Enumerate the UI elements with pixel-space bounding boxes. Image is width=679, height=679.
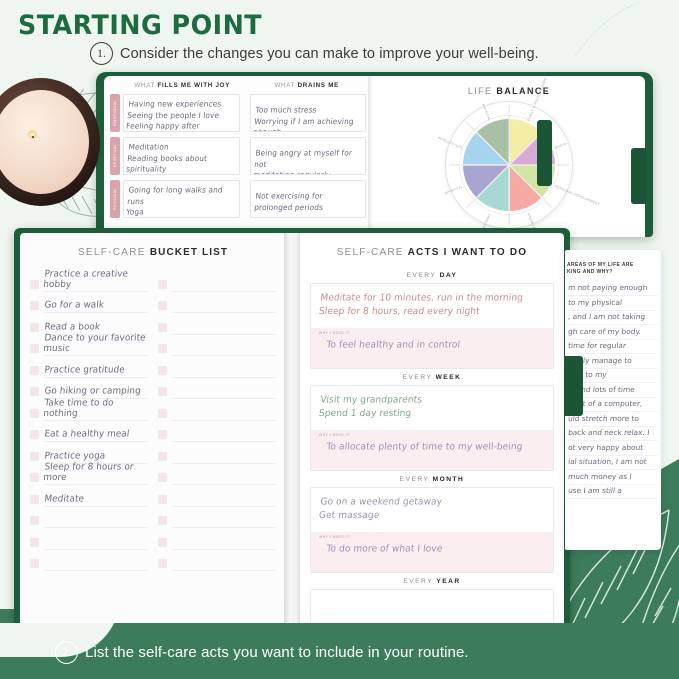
category-tab-label: PHYSICAL [113, 188, 117, 210]
bucket-list-item[interactable] [158, 528, 276, 550]
act-text: Meditate for 10 minutes, run in the morn… [318, 292, 543, 319]
self-care-act-block: Visit my grandparents Spend 1 day restin… [310, 385, 554, 471]
bucket-list-line [172, 294, 276, 313]
act-text: Visit my grandparents Spend 1 day restin… [318, 394, 543, 421]
act-input-area[interactable]: Visit my grandparents Spend 1 day restin… [311, 386, 553, 430]
why-text: To feel healthy and in control [318, 339, 545, 352]
bucket-list-checkbox[interactable] [30, 387, 39, 396]
bucket-list-item[interactable]: Sleep for 8 hours or more [30, 464, 148, 486]
bucket-list-item[interactable]: Take time to do nothing [30, 399, 148, 421]
step-one-number: 1. [90, 42, 113, 65]
step-one-text: Consider the changes you can make to imp… [120, 46, 539, 62]
bucket-list-line [44, 552, 148, 571]
bucket-list-item[interactable]: Dance to your favorite music [30, 335, 148, 357]
self-care-act-block: Meditate for 10 minutes, run in the morn… [310, 283, 554, 369]
joy-entry-box[interactable]: Having new experiences Seeing the people… [123, 94, 240, 132]
right-page-line: ial situation, I am not [567, 455, 659, 470]
bucket-list-line: Dance to your favorite music [44, 337, 148, 356]
bucket-list-checkbox[interactable] [158, 409, 167, 418]
bucket-list-line: Go hiking or camping [44, 380, 148, 399]
bucket-list-item[interactable] [30, 528, 148, 550]
candle-decoration [0, 78, 100, 206]
frequency-header: EVERY WEEK [300, 369, 564, 385]
category-tab-label: SPIRITUAL [113, 144, 117, 167]
bucket-list-line [172, 380, 276, 399]
drains-entry-text: Being angry at myself for not meditating… [251, 148, 360, 175]
bucket-list-item[interactable] [158, 485, 276, 507]
bucket-list-checkbox[interactable] [158, 430, 167, 439]
frequency-label: YEAR [436, 578, 460, 585]
elastic-band-top [631, 148, 647, 204]
bucket-list-column-left: Practice a creative hobbyGo for a walkRe… [30, 270, 148, 571]
bucket-list-checkbox[interactable] [158, 495, 167, 504]
step-one: 1. Consider the changes you can make to … [90, 42, 539, 65]
bucket-list-checkbox[interactable] [30, 495, 39, 504]
page-joy-drains: WHAT FILLS ME WITH JOY WHAT DRAINS ME EM… [104, 76, 372, 237]
step-two-number: 2. [55, 641, 78, 664]
right-page-line: , and I am not taking [567, 310, 659, 325]
self-care-acts-title: SELF-CARE ACTS I WANT TO DO [300, 233, 564, 267]
right-page-heading: AREAS OF MY LIFE ARE KING AND WHY? [565, 250, 661, 279]
right-page-line: time for regular [567, 339, 659, 354]
bucket-list-checkbox[interactable] [30, 280, 39, 289]
poster-canvas: STARTING POINT 1. Consider the changes y… [0, 0, 679, 679]
bucket-list-title: SELF-CARE BUCKET LIST [20, 233, 286, 270]
journal-spread-bottom: SELF-CARE BUCKET LIST Practice a creativ… [14, 228, 570, 642]
bucket-list-checkbox[interactable] [30, 366, 39, 375]
bucket-list-item[interactable] [158, 507, 276, 529]
bucket-list-item-text: Practice gratitude [44, 365, 125, 376]
bucket-list-item-text: Eat a healthy meal [44, 429, 130, 440]
bucket-list-item-text: Read a book [44, 322, 101, 333]
why-i-need-it-label: WHY I NEED IT [319, 331, 545, 339]
bucket-list-item-text: Go hiking or camping [44, 386, 141, 397]
bucket-list-checkbox[interactable] [30, 559, 39, 568]
bucket-list-item[interactable]: Read a book [30, 313, 148, 335]
why-text: To allocate plenty of time to my well-be… [318, 441, 545, 454]
bucket-list-item[interactable]: Go for a walk [30, 292, 148, 314]
bucket-list-item[interactable] [158, 378, 276, 400]
bucket-list-item[interactable]: Practice yoga [30, 442, 148, 464]
frequency-label: MONTH [433, 476, 465, 483]
bucket-list-line: Eat a healthy meal [44, 423, 148, 442]
why-input-area[interactable]: WHY I NEED ITTo allocate plenty of time … [311, 430, 553, 470]
bucket-list-line [172, 316, 276, 335]
step-two: 2. List the self-care acts you want to i… [55, 641, 469, 664]
why-input-area[interactable]: WHY I NEED ITTo feel healthy and in cont… [311, 328, 553, 368]
joy-entry-text: Having new experiences Seeing the people… [124, 99, 233, 132]
frequency-label: WEEK [436, 374, 462, 381]
act-text: Go on a weekend getaway Get massage [318, 496, 543, 523]
bucket-list-checkbox[interactable] [30, 473, 39, 482]
bucket-list-line: Go for a walk [44, 294, 148, 313]
bucket-list-line: Practice a creative hobby [44, 273, 148, 292]
bucket-list-item-text: Take time to do nothing [43, 398, 148, 419]
category-tab[interactable]: PHYSICAL [110, 180, 120, 218]
joy-entry-box[interactable]: Going for long walks and runs Yoga Danci… [123, 180, 240, 218]
bucket-list-item-text: Meditate [44, 494, 85, 505]
bucket-list-line [172, 402, 276, 421]
frequency-header: EVERY YEAR [300, 573, 564, 589]
joy-entry-text: Meditation Reading books about spiritual… [126, 142, 234, 175]
frequency-header: EVERY MONTH [300, 471, 564, 487]
bucket-list-line [172, 531, 276, 550]
bucket-list-line [172, 509, 276, 528]
bucket-list-item[interactable]: Go hiking or camping [30, 378, 148, 400]
bucket-list-item[interactable] [158, 421, 276, 443]
bucket-list-item[interactable] [158, 313, 276, 335]
bucket-list-line: Sleep for 8 hours or more [44, 466, 148, 485]
bucket-list-item[interactable]: Eat a healthy meal [30, 421, 148, 443]
act-input-area[interactable]: Meditate for 10 minutes, run in the morn… [311, 284, 553, 328]
bucket-list-checkbox[interactable] [158, 516, 167, 525]
why-input-area[interactable]: WHY I NEED ITTo do more of what I love [311, 532, 553, 572]
joy-entry-box[interactable]: Meditation Reading books about spiritual… [123, 137, 240, 175]
bucket-list-line [172, 273, 276, 292]
bucket-list-checkbox[interactable] [158, 452, 167, 461]
bucket-list-item[interactable] [30, 550, 148, 572]
bucket-list-line [172, 359, 276, 378]
life-balance-wheel: FAMILY & RELATIONSHIPSSOCIALPERSONAL DEV… [445, 101, 573, 229]
bucket-list-checkbox[interactable] [158, 280, 167, 289]
bucket-list-line [172, 423, 276, 442]
bucket-list-checkbox[interactable] [30, 516, 39, 525]
self-care-acts-blocks: EVERY DAYMeditate for 10 minutes, run in… [300, 267, 564, 637]
frequency-prefix: EVERY [403, 578, 436, 585]
bucket-list-checkbox[interactable] [158, 301, 167, 310]
bucket-list-checkbox[interactable] [30, 538, 39, 547]
bucket-list-item[interactable] [158, 464, 276, 486]
bucket-list-item-text: Go for a walk [44, 300, 105, 311]
bucket-list-line [44, 531, 148, 550]
bucket-list-line: Practice gratitude [44, 359, 148, 378]
bucket-list-item[interactable] [158, 550, 276, 572]
drains-entry-text: Not exercising for prolonged periods [253, 191, 360, 213]
why-i-need-it-label: WHY I NEED IT [319, 535, 545, 543]
bucket-list-column-right [158, 270, 276, 571]
bucket-list-line [172, 337, 276, 356]
bucket-list-item-text: Dance to your favorite music [43, 333, 148, 354]
joy-drains-row: SPIRITUALMeditation Reading books about … [110, 137, 366, 175]
bucket-list-checkbox[interactable] [158, 473, 167, 482]
bucket-list-checkbox[interactable] [30, 301, 39, 310]
right-page-line: gh care of my body. [567, 325, 659, 340]
candle-wick [28, 130, 37, 139]
bucket-list-checkbox[interactable] [158, 559, 167, 568]
bucket-list-item[interactable]: Practice gratitude [30, 356, 148, 378]
why-i-need-it-label: WHY I NEED IT [319, 433, 545, 441]
category-tab-label: EMOTIONAL [113, 100, 117, 126]
drains-entry-box[interactable]: Too much stress Worrying if I am achievi… [250, 94, 367, 132]
bucket-list-item-text: Sleep for 8 hours or more [43, 462, 148, 483]
bucket-list-item[interactable] [158, 399, 276, 421]
bucket-list-item[interactable] [30, 507, 148, 529]
journal-spread-top: WHAT FILLS ME WITH JOY WHAT DRAINS ME EM… [96, 72, 653, 237]
frequency-prefix: EVERY [400, 476, 433, 483]
frequency-header: EVERY DAY [300, 267, 564, 283]
bucket-list-item-text: Practice yoga [44, 451, 106, 462]
bucket-list-line: Practice yoga [44, 445, 148, 464]
page-self-care-acts: SELF-CARE ACTS I WANT TO DO EVERY DAYMed… [300, 233, 564, 637]
bucket-list-checkbox[interactable] [158, 344, 167, 353]
bucket-list-item[interactable] [158, 356, 276, 378]
life-balance-title: LIFE BALANCE [373, 76, 645, 96]
bucket-list-checkbox[interactable] [30, 430, 39, 439]
bucket-list-line: Take time to do nothing [44, 402, 148, 421]
bucket-list-item[interactable] [158, 292, 276, 314]
bucket-list-item-text: Practice a creative hobby [43, 269, 148, 290]
drains-entry-text: Too much stress Worrying if I am achievi… [252, 105, 360, 132]
page-life-balance: LIFE BALANCE FAMILY & RELATIONSHIPSSOCIA… [373, 76, 645, 237]
page-title: STARTING POINT [18, 10, 262, 41]
right-page-line: much money as I [567, 470, 659, 485]
bucket-list-item[interactable]: Meditate [30, 485, 148, 507]
bucket-list-checkbox[interactable] [30, 452, 39, 461]
bucket-list-line [172, 552, 276, 571]
page-bucket-list: SELF-CARE BUCKET LIST Practice a creativ… [20, 233, 286, 637]
joy-drains-row: EMOTIONALHaving new experiences Seeing t… [110, 94, 366, 132]
joy-entry-text: Going for long walks and runs Yoga Danci… [123, 185, 233, 218]
leaf-decoration-top-right [571, 0, 645, 60]
bucket-list-line [172, 488, 276, 507]
right-page-line: m not paying enough [567, 281, 659, 296]
bucket-list-item[interactable] [158, 335, 276, 357]
column-header-drains: WHAT DRAINS ME [248, 76, 367, 94]
bucket-list-line: Read a book [44, 316, 148, 335]
bucket-list-checkbox[interactable] [30, 323, 39, 332]
frequency-label: DAY [440, 272, 458, 279]
bucket-list-line [172, 466, 276, 485]
elastic-band-right-page [565, 356, 583, 416]
bucket-list-checkbox[interactable] [158, 387, 167, 396]
bucket-list-item[interactable] [158, 270, 276, 292]
act-input-area[interactable]: Go on a weekend getaway Get massage [311, 488, 553, 532]
bucket-list-item[interactable]: Practice a creative hobby [30, 270, 148, 292]
bucket-list-checkbox[interactable] [158, 538, 167, 547]
bucket-list-line [44, 509, 148, 528]
joy-drains-rows: EMOTIONALHaving new experiences Seeing t… [104, 94, 372, 218]
frequency-prefix: EVERY [407, 272, 440, 279]
bucket-list-checkbox[interactable] [158, 366, 167, 375]
page-areas-of-my-life: AREAS OF MY LIFE ARE KING AND WHY? m not… [565, 250, 661, 550]
self-care-act-block: Go on a weekend getaway Get massageWHY I… [310, 487, 554, 573]
joy-drains-row: PHYSICALGoing for long walks and runs Yo… [110, 180, 366, 218]
bucket-list-checkbox[interactable] [30, 409, 39, 418]
bucket-list-checkbox[interactable] [30, 344, 39, 353]
drains-entry-box[interactable]: Being angry at myself for not meditating… [250, 137, 367, 175]
why-text: To do more of what I love [318, 543, 545, 556]
bucket-list-line [172, 445, 276, 464]
right-page-line: to my physical [567, 296, 659, 311]
bucket-list-item[interactable] [158, 442, 276, 464]
right-page-line: use I am still a [567, 484, 659, 499]
right-page-line: back and neck relax. I [567, 426, 659, 441]
right-page-line: ot very happy about [567, 441, 659, 456]
step-two-text: List the self-care acts you want to incl… [85, 644, 469, 661]
elastic-band-bottom [537, 120, 552, 186]
column-header-joy: WHAT FILLS ME WITH JOY [123, 76, 242, 94]
drains-entry-box[interactable]: Not exercising for prolonged periods [250, 180, 367, 218]
frequency-prefix: EVERY [403, 374, 436, 381]
category-tab[interactable]: SPIRITUAL [110, 137, 120, 175]
bucket-list-line: Meditate [44, 488, 148, 507]
bucket-list-checkbox[interactable] [158, 323, 167, 332]
category-tab[interactable]: EMOTIONAL [110, 94, 120, 132]
